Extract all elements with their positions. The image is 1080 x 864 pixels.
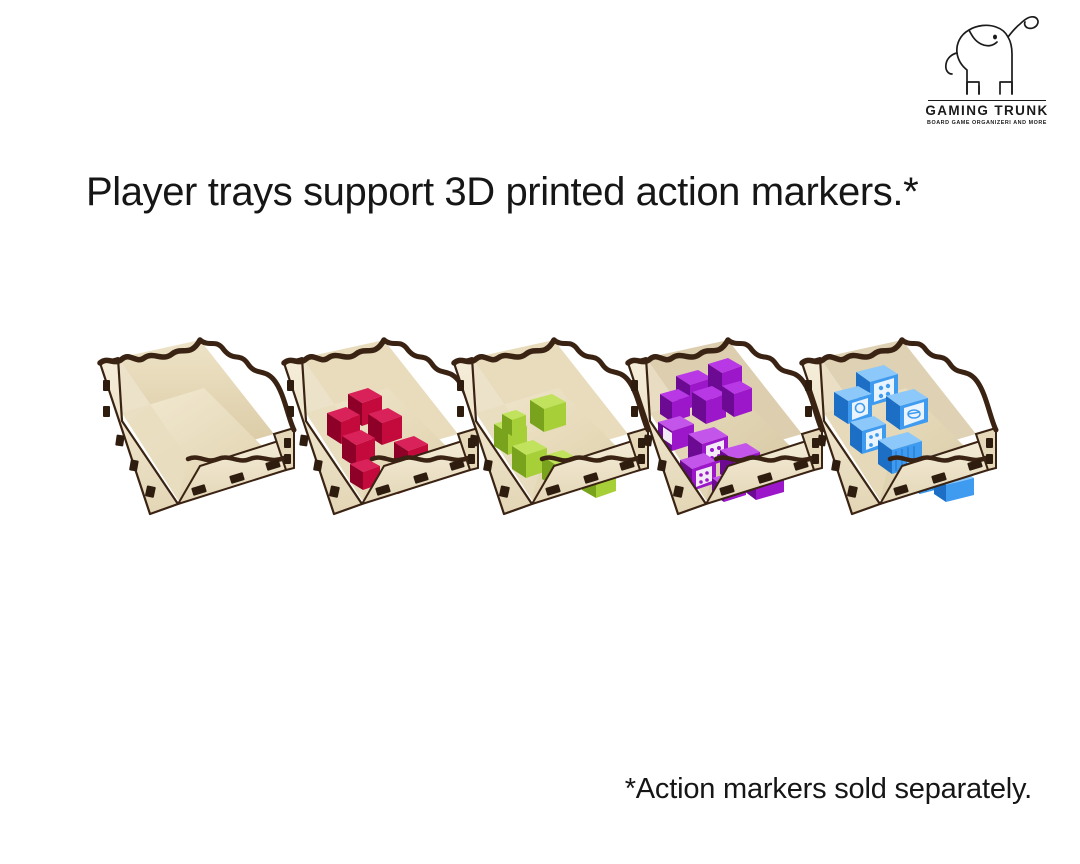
headline-text: Player trays support 3D printed action m… xyxy=(86,170,918,215)
brand-logo: GAMING TRUNK BOARD GAME ORGANIZERI AND M… xyxy=(912,8,1062,128)
brand-tagline: BOARD GAME ORGANIZERI AND MORE xyxy=(912,121,1062,126)
product-photo-canvas: GAMING TRUNK BOARD GAME ORGANIZERI AND M… xyxy=(0,0,1080,864)
player-tray-blue xyxy=(790,318,1010,548)
elephant-icon xyxy=(912,8,1062,100)
tray-row xyxy=(0,318,1080,548)
logo-divider xyxy=(928,100,1046,101)
footnote-text: *Action markers sold separately. xyxy=(625,773,1032,806)
brand-name: GAMING TRUNK xyxy=(912,104,1062,118)
